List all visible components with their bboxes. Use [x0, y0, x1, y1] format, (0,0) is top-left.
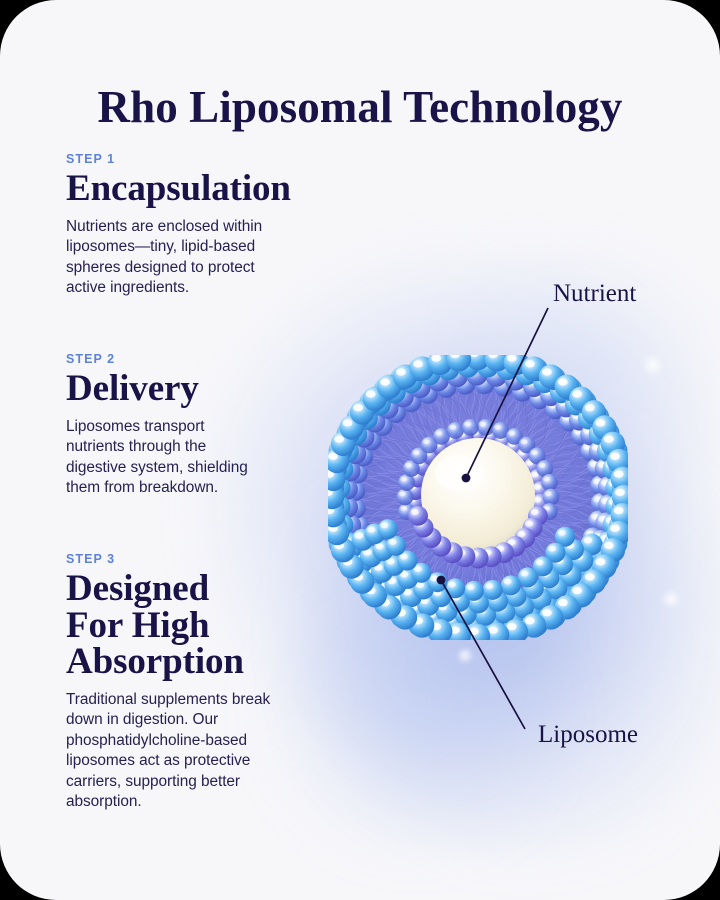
step-block-2: STEP 2 Delivery Liposomes transport nutr…	[66, 352, 334, 499]
step-body-3: Traditional supplements break down in di…	[66, 690, 334, 813]
step-body-line: digestive system, shielding	[66, 458, 334, 478]
step-kicker-1: STEP 1	[66, 152, 334, 166]
step-body-line: active ingredients.	[66, 278, 334, 298]
callout-label-liposome: Liposome	[538, 721, 638, 749]
step-body-line: carriers, supporting better	[66, 772, 334, 792]
step-block-1: STEP 1 Encapsulation Nutrients are enclo…	[66, 152, 334, 299]
infographic-card: Rho Liposomal Technology	[0, 0, 720, 900]
step-body-line: down in digestion. Our	[66, 710, 334, 730]
step-body-line: Nutrients are enclosed within	[66, 217, 334, 237]
step-body-line: Traditional supplements break	[66, 690, 334, 710]
step-body-1: Nutrients are enclosed within liposomes—…	[66, 217, 334, 299]
sparkle-icon	[660, 590, 682, 608]
step-heading-line: Designed	[66, 571, 334, 608]
step-heading-1: Encapsulation	[66, 171, 334, 208]
step-heading-line: Absorption	[66, 644, 334, 681]
step-heading-3: Designed For High Absorption	[66, 571, 334, 681]
step-body-line: liposomes act as protective	[66, 751, 334, 771]
step-heading-line: Delivery	[66, 371, 334, 408]
step-body-line: phosphatidylcholine-based	[66, 731, 334, 751]
page-title: Rho Liposomal Technology	[0, 82, 720, 132]
step-kicker-3: STEP 3	[66, 552, 334, 566]
step-body-line: nutrients through the	[66, 437, 334, 457]
step-body-line: them from breakdown.	[66, 478, 334, 498]
sparkle-icon	[640, 355, 666, 375]
step-kicker-2: STEP 2	[66, 352, 334, 366]
step-heading-line: For High	[66, 608, 334, 645]
step-body-line: Liposomes transport	[66, 417, 334, 437]
step-heading-2: Delivery	[66, 371, 334, 408]
step-heading-line: Encapsulation	[66, 171, 334, 208]
sparkle-icon	[455, 648, 475, 663]
step-body-line: absorption.	[66, 792, 334, 812]
step-body-line: spheres designed to protect	[66, 258, 334, 278]
step-block-3: STEP 3 Designed For High Absorption Trad…	[66, 552, 334, 813]
callout-label-nutrient: Nutrient	[553, 280, 636, 308]
step-body-2: Liposomes transport nutrients through th…	[66, 417, 334, 499]
liposome-illustration	[328, 355, 628, 640]
step-body-line: liposomes—tiny, lipid-based	[66, 237, 334, 257]
